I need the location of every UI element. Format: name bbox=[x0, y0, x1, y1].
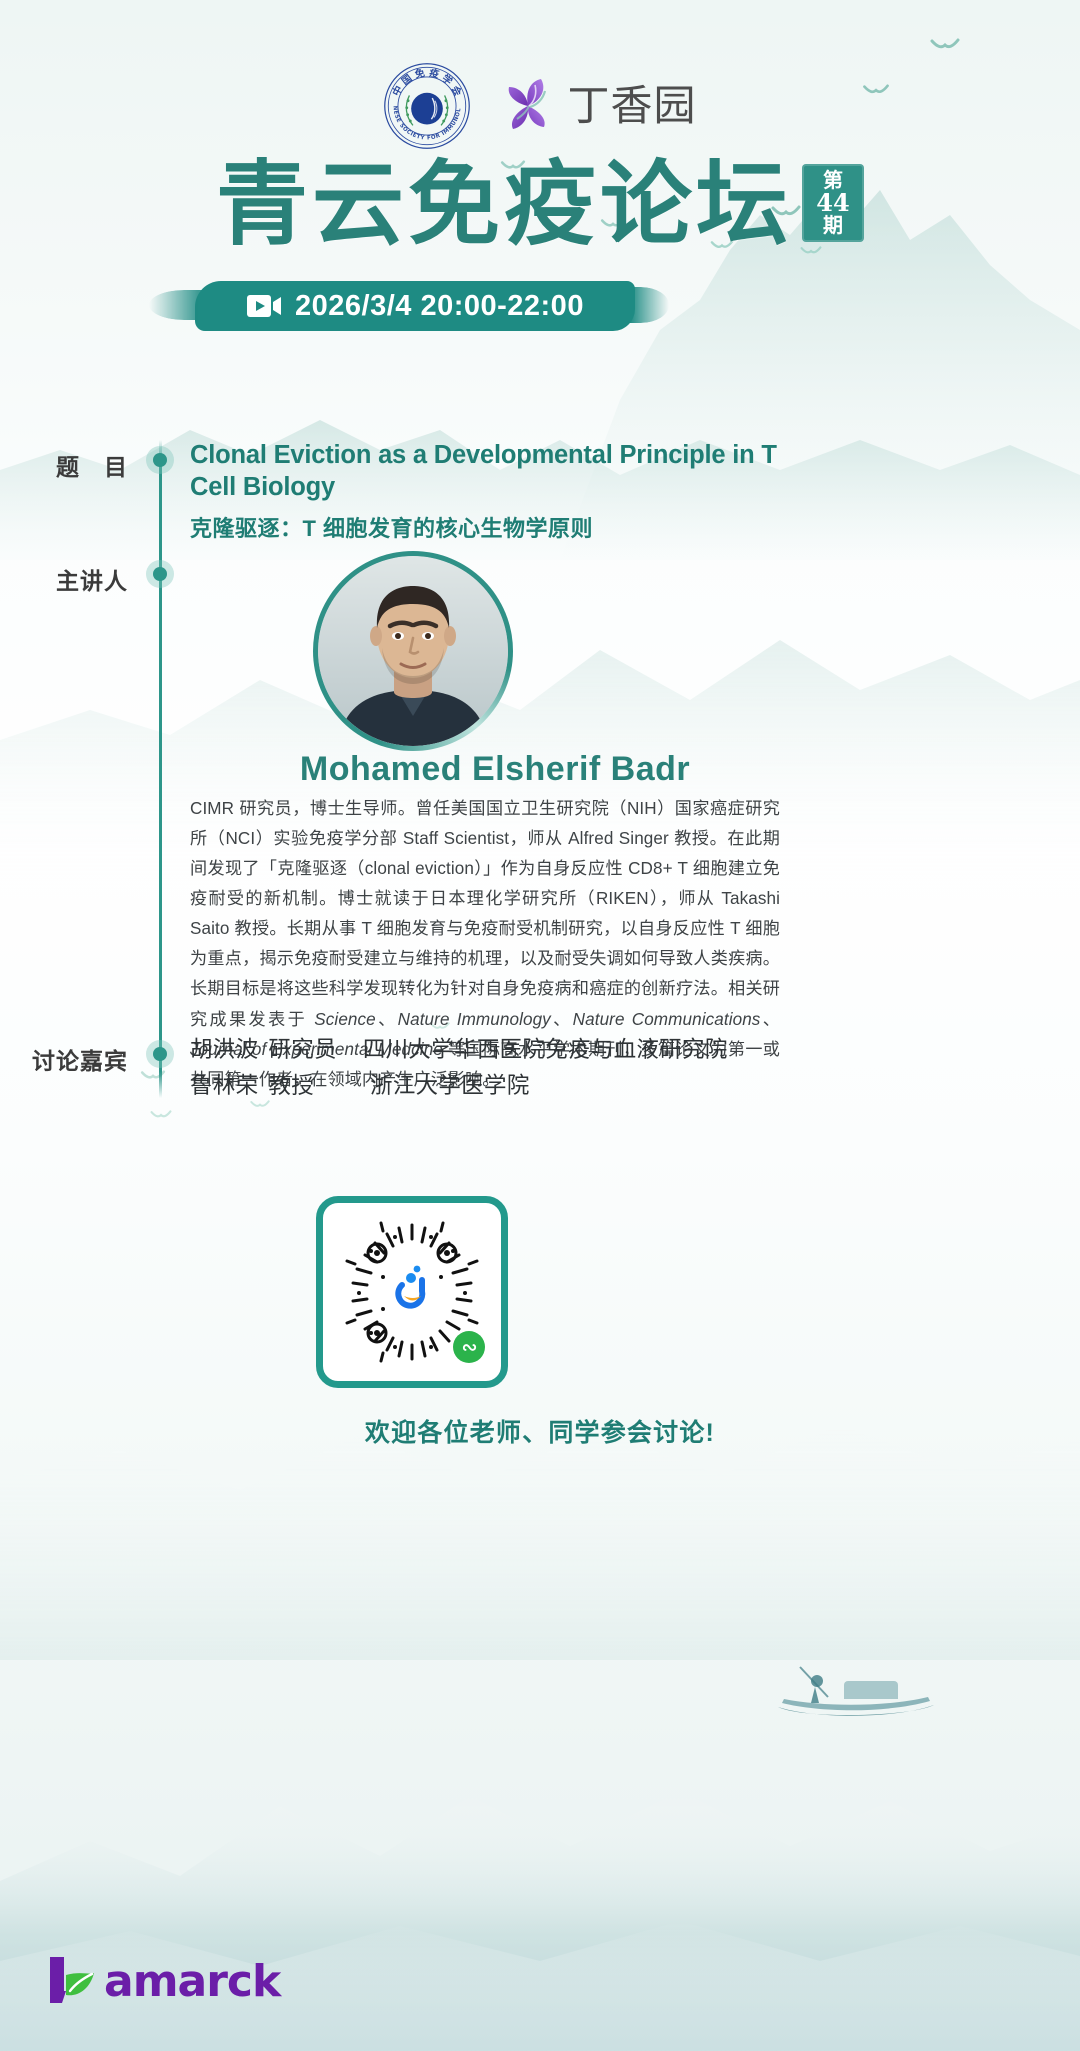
topic-block: Clonal Eviction as a Developmental Princ… bbox=[190, 440, 800, 543]
lamarck-wordmark: amarck bbox=[104, 1956, 280, 2007]
issue-number: 44 bbox=[816, 191, 849, 215]
guest-affiliation: 四川大学华西医院免疫与血液研究院 bbox=[363, 1037, 728, 1062]
dxy-logo-text: 丁香园 bbox=[567, 85, 696, 127]
lamarck-logo: amarck bbox=[44, 1953, 280, 2009]
bio-part-1: CIMR 研究员，博士生导师。曾任美国国立卫生研究院（NIH）国家癌症研究所（N… bbox=[190, 799, 780, 1029]
guest-title: 研究员 bbox=[268, 1037, 336, 1062]
issue-badge: 第 44 期 bbox=[802, 164, 864, 242]
speaker-label: 主讲人 bbox=[18, 562, 128, 596]
lamarck-leaf-icon bbox=[44, 1953, 102, 2009]
timeline-dot-topic bbox=[146, 446, 174, 474]
dingxiangyuan-logo: 丁香园 bbox=[497, 75, 696, 137]
page-title: 青云免疫论坛 bbox=[216, 158, 792, 250]
schedule-banner: 2026/3/4 20:00-22:00 bbox=[195, 281, 635, 331]
timeline-dot-guests bbox=[146, 1040, 174, 1068]
guests-block: 胡洪波研究员四川大学华西医院免疫与血液研究院 鲁林荣教授浙江大学医学院 bbox=[190, 1032, 800, 1103]
bio-sep-3: 、 bbox=[760, 1010, 780, 1029]
guest-list-item: 胡洪波研究员四川大学华西医院免疫与血液研究院 bbox=[190, 1032, 800, 1068]
welcome-caption: 欢迎各位老师、同学参会讨论! bbox=[0, 1413, 1080, 1449]
guest-name: 胡洪波 bbox=[190, 1037, 258, 1062]
boat-decoration bbox=[760, 1645, 950, 1735]
speaker-name: Mohamed Elsherif Badr bbox=[190, 750, 800, 789]
bio-sep-2: 、 bbox=[551, 1010, 573, 1029]
guest-list-item: 鲁林荣教授浙江大学医学院 bbox=[190, 1068, 800, 1104]
issue-suffix: 期 bbox=[823, 215, 843, 235]
bio-sep-1: 、 bbox=[376, 1010, 398, 1029]
video-camera-icon bbox=[247, 294, 281, 318]
header-logos: 中 国 免 疫 学 会 CHINESE SOCIETY FOR IMMUNOLO… bbox=[0, 62, 1080, 150]
guest-affiliation: 浙江大学医学院 bbox=[370, 1073, 530, 1098]
bird-icon bbox=[150, 1110, 172, 1123]
timeline-dot-speaker bbox=[146, 560, 174, 588]
bird-icon bbox=[930, 38, 960, 56]
qr-center-logo bbox=[389, 1263, 435, 1315]
speaker-portrait bbox=[313, 551, 513, 751]
dxy-butterfly-icon bbox=[497, 75, 559, 137]
chinese-society-immunology-logo: 中 国 免 疫 学 会 CHINESE SOCIETY FOR IMMUNOLO… bbox=[383, 62, 471, 150]
topic-title-english: Clonal Eviction as a Developmental Princ… bbox=[190, 440, 800, 504]
wechat-miniprogram-icon bbox=[453, 1331, 485, 1363]
guest-title: 教授 bbox=[268, 1073, 314, 1098]
guest-name: 鲁林荣 bbox=[190, 1073, 258, 1098]
qr-code[interactable] bbox=[316, 1196, 508, 1388]
journal-nature-communications: Nature Communications bbox=[573, 1010, 761, 1029]
qr-code-pattern bbox=[337, 1217, 487, 1367]
bird-icon bbox=[140, 1070, 166, 1085]
journal-science: Science bbox=[314, 1010, 376, 1029]
forum-title-block: 青云免疫论坛 第 44 期 bbox=[0, 158, 1080, 250]
schedule-datetime: 2026/3/4 20:00-22:00 bbox=[295, 290, 584, 323]
journal-nature-immunology: Nature Immunology bbox=[398, 1010, 551, 1029]
portrait-image bbox=[318, 556, 508, 746]
guests-label: 讨论嘉宾 bbox=[18, 1042, 128, 1076]
content-timeline bbox=[159, 440, 162, 1098]
poster-canvas: 中 国 免 疫 学 会 CHINESE SOCIETY FOR IMMUNOLO… bbox=[0, 0, 1080, 2051]
topic-label: 题 目 bbox=[18, 448, 128, 482]
topic-title-chinese: 克隆驱逐：T 细胞发育的核心生物学原则 bbox=[190, 511, 800, 543]
